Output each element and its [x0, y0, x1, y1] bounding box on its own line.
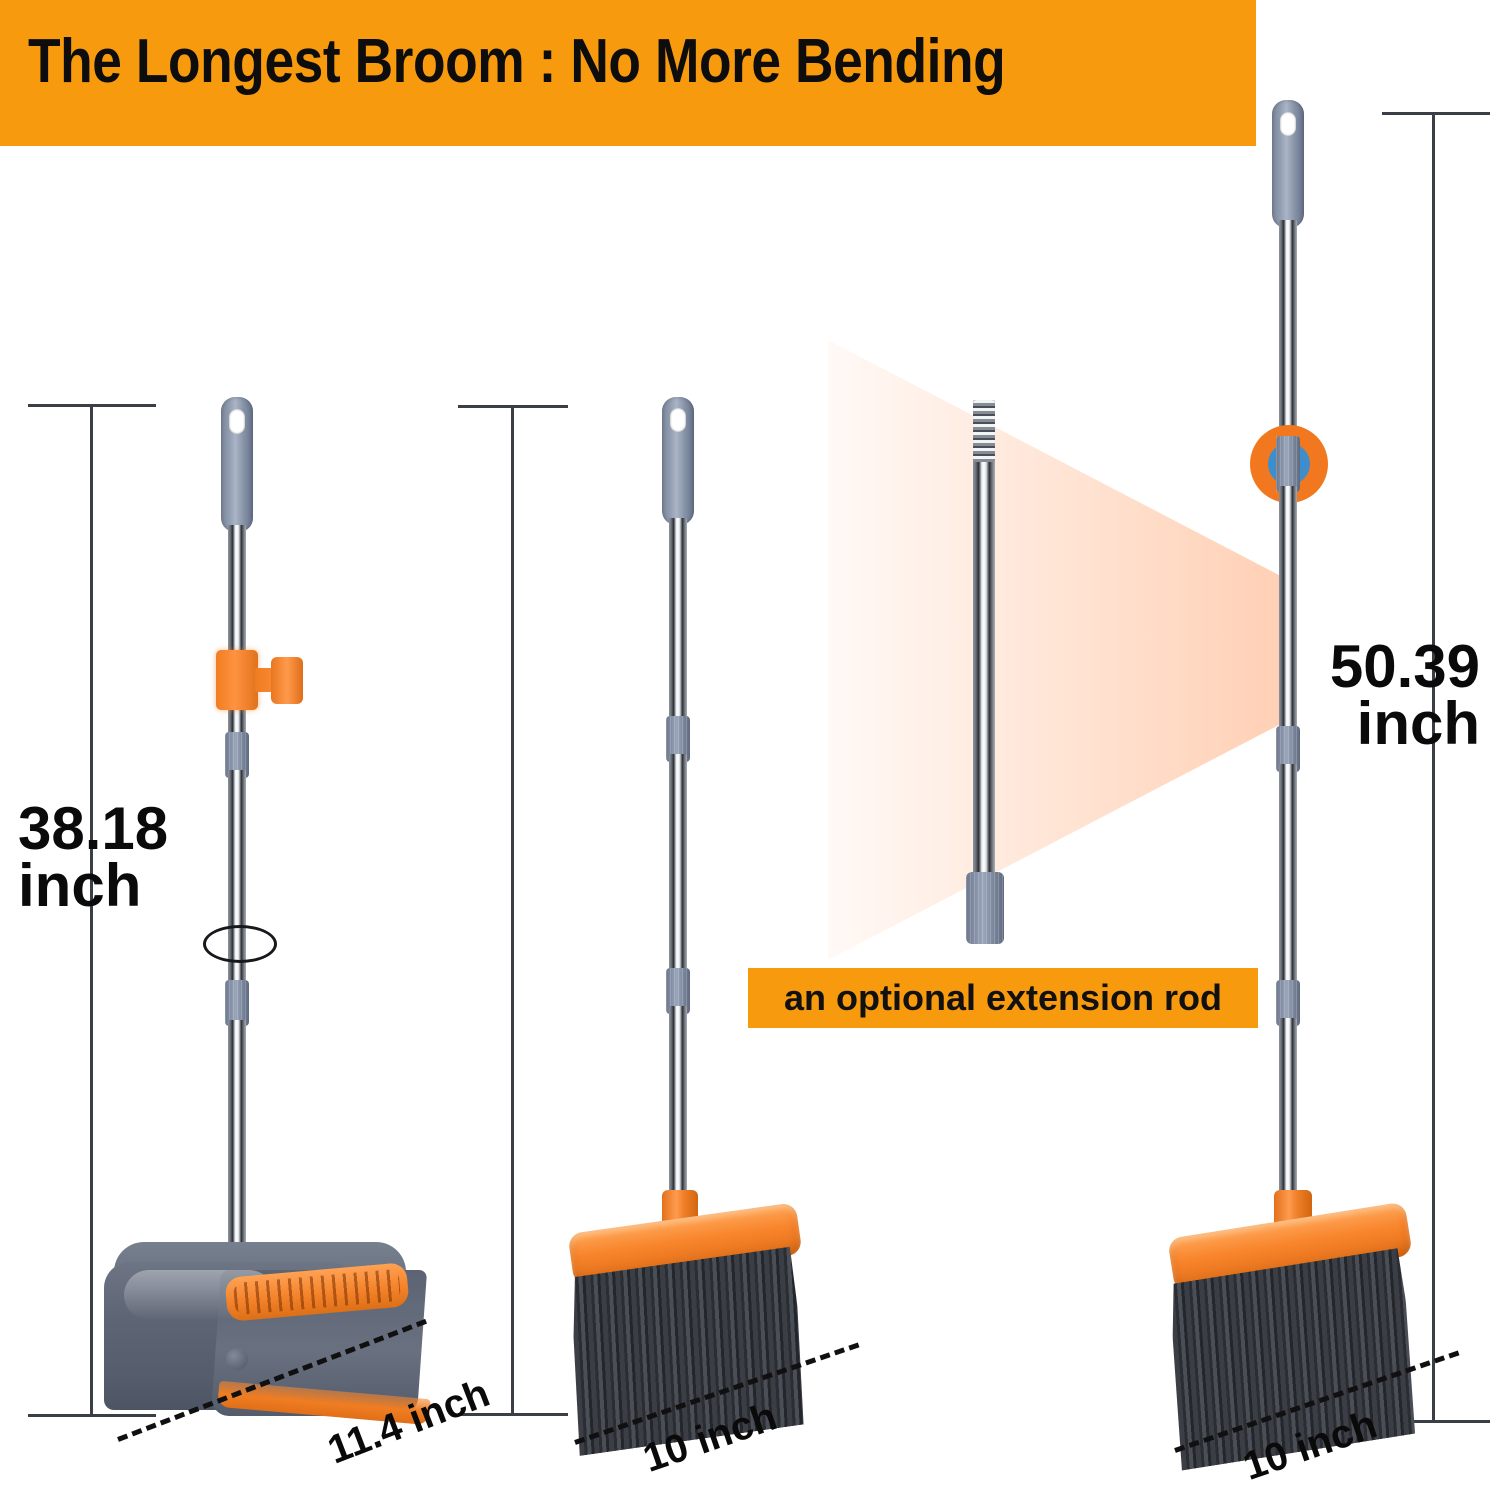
- extension-rod-end-cap: [966, 872, 1004, 944]
- extension-rod-thread: [973, 400, 995, 462]
- left-dimension-unit: inch: [18, 857, 168, 914]
- center-broom-head: [560, 1190, 860, 1440]
- right-pole-top: [1279, 220, 1297, 460]
- left-dimension-label: 38.18 inch: [18, 800, 168, 914]
- extension-rod-callout: an optional extension rod: [748, 968, 1258, 1028]
- left-pole-clip-body[interactable]: [216, 650, 258, 710]
- center-handle-hanging-hole: [670, 408, 686, 432]
- left-dimension-value: 38.18: [18, 800, 168, 857]
- banner-title: The Longest Broom : No More Bending: [28, 26, 1060, 97]
- right-handle-hanging-hole: [1280, 112, 1296, 136]
- right-pole-middle: [1279, 764, 1297, 986]
- extension-rod-callout-text: an optional extension rod: [784, 977, 1222, 1019]
- left-pole-clip-cap: [271, 657, 303, 704]
- right-pole-upper: [1279, 486, 1297, 732]
- center-pole-middle: [669, 754, 687, 974]
- right-dimension-top-tick: [1382, 112, 1490, 115]
- center-pole-lower: [669, 1006, 687, 1206]
- left-handle-hanging-hole: [229, 409, 245, 434]
- extension-highlight-beam: [828, 340, 1280, 960]
- header-banner: The Longest Broom : No More Bending: [0, 0, 1256, 146]
- left-pole-lower: [228, 1020, 246, 1255]
- dustpan-pivot-knob: [226, 1348, 248, 1370]
- rotation-indicator-icon: [203, 925, 277, 963]
- center-pole-upper: [669, 518, 687, 723]
- right-pole-lower: [1279, 1018, 1297, 1210]
- extension-rod-shaft: [973, 400, 995, 880]
- product-infographic: The Longest Broom : No More Bending 38.1…: [0, 0, 1500, 1498]
- right-pole-collar-joint: [1276, 436, 1300, 492]
- right-broom-head: [1162, 1190, 1472, 1450]
- dustpan: [100, 1240, 430, 1420]
- center-dimension-line: [511, 405, 514, 1415]
